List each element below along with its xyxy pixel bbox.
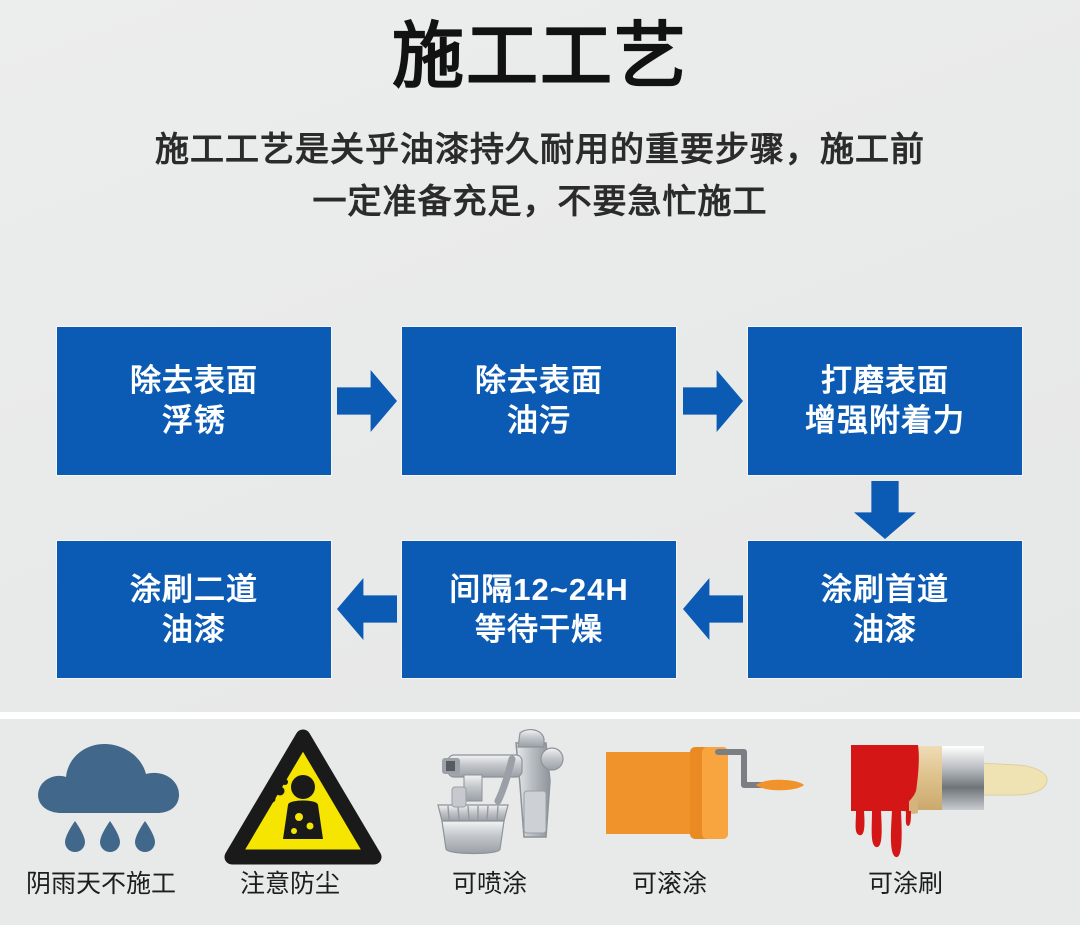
flow-step-1-line1: 除去表面 xyxy=(130,361,258,401)
footer-icon-strip: 阴雨天不施工 注意防尘 xyxy=(0,719,1080,925)
footer-label-no-rain-work: 阴雨天不施工 xyxy=(26,867,226,901)
footer-item-no-rain-work: 阴雨天不施工 xyxy=(18,719,218,925)
flow-step-4-line1: 涂刷首道 xyxy=(821,570,949,610)
flow-step-2-line2: 油污 xyxy=(507,401,571,441)
arrow-down-icon-step3-to-step4 xyxy=(854,481,916,539)
arrow-right-icon-step2-to-step3 xyxy=(683,370,743,432)
arrow-left-icon-step4-to-step5 xyxy=(683,578,743,640)
flow-step-2[interactable]: 除去表面 油污 xyxy=(402,327,676,475)
arrow-right-icon-step1-to-step2 xyxy=(337,370,397,432)
flow-step-3-line1: 打磨表面 xyxy=(821,361,949,401)
paint-brush-icon xyxy=(840,725,1060,865)
footer-item-brushable: 可涂刷 xyxy=(840,719,1060,925)
rain-cloud-icon xyxy=(18,725,218,865)
flow-step-5[interactable]: 间隔12~24H 等待干燥 xyxy=(402,541,676,678)
flow-step-4-line2: 油漆 xyxy=(853,610,917,650)
flow-step-4[interactable]: 涂刷首道 油漆 xyxy=(748,541,1022,678)
subtitle-line-2: 一定准备充足，不要急忙施工 xyxy=(90,176,990,228)
footer-item-rollable: 可滚涂 xyxy=(598,719,813,925)
page-subtitle: 施工工艺是关乎油漆持久耐用的重要步骤，施工前 一定准备充足，不要急忙施工 xyxy=(90,124,990,228)
flow-step-5-line1: 间隔12~24H xyxy=(449,570,628,610)
paint-roller-icon xyxy=(598,725,813,865)
flow-step-6-line2: 油漆 xyxy=(162,610,226,650)
footer-label-dust-warning: 注意防尘 xyxy=(240,867,390,901)
spray-gun-icon xyxy=(420,725,580,865)
page-title: 施工工艺 xyxy=(0,14,1080,100)
footer-label-brushable: 可涂刷 xyxy=(868,867,1080,901)
footer-label-sprayable: 可喷涂 xyxy=(452,867,612,901)
subtitle-line-1: 施工工艺是关乎油漆持久耐用的重要步骤，施工前 xyxy=(90,124,990,176)
flow-step-2-line1: 除去表面 xyxy=(475,361,603,401)
footer-item-sprayable: 可喷涂 xyxy=(420,719,580,925)
flow-step-1[interactable]: 除去表面 浮锈 xyxy=(57,327,331,475)
arrow-left-icon-step5-to-step6 xyxy=(337,578,397,640)
flow-step-1-line2: 浮锈 xyxy=(162,401,226,441)
infographic-page: 施工工艺 施工工艺是关乎油漆持久耐用的重要步骤，施工前 一定准备充足，不要急忙施… xyxy=(0,0,1080,925)
flow-step-3[interactable]: 打磨表面 增强附着力 xyxy=(748,327,1022,475)
main-panel: 施工工艺 施工工艺是关乎油漆持久耐用的重要步骤，施工前 一定准备充足，不要急忙施… xyxy=(0,0,1080,712)
footer-item-dust-warning: 注意防尘 xyxy=(228,719,378,925)
flow-step-5-line2: 等待干燥 xyxy=(475,610,603,650)
dust-warning-icon xyxy=(228,725,378,865)
footer-label-rollable: 可滚涂 xyxy=(632,867,847,901)
flow-step-6[interactable]: 涂刷二道 油漆 xyxy=(57,541,331,678)
flow-step-6-line1: 涂刷二道 xyxy=(130,570,258,610)
flow-step-3-line2: 增强附着力 xyxy=(805,401,965,441)
